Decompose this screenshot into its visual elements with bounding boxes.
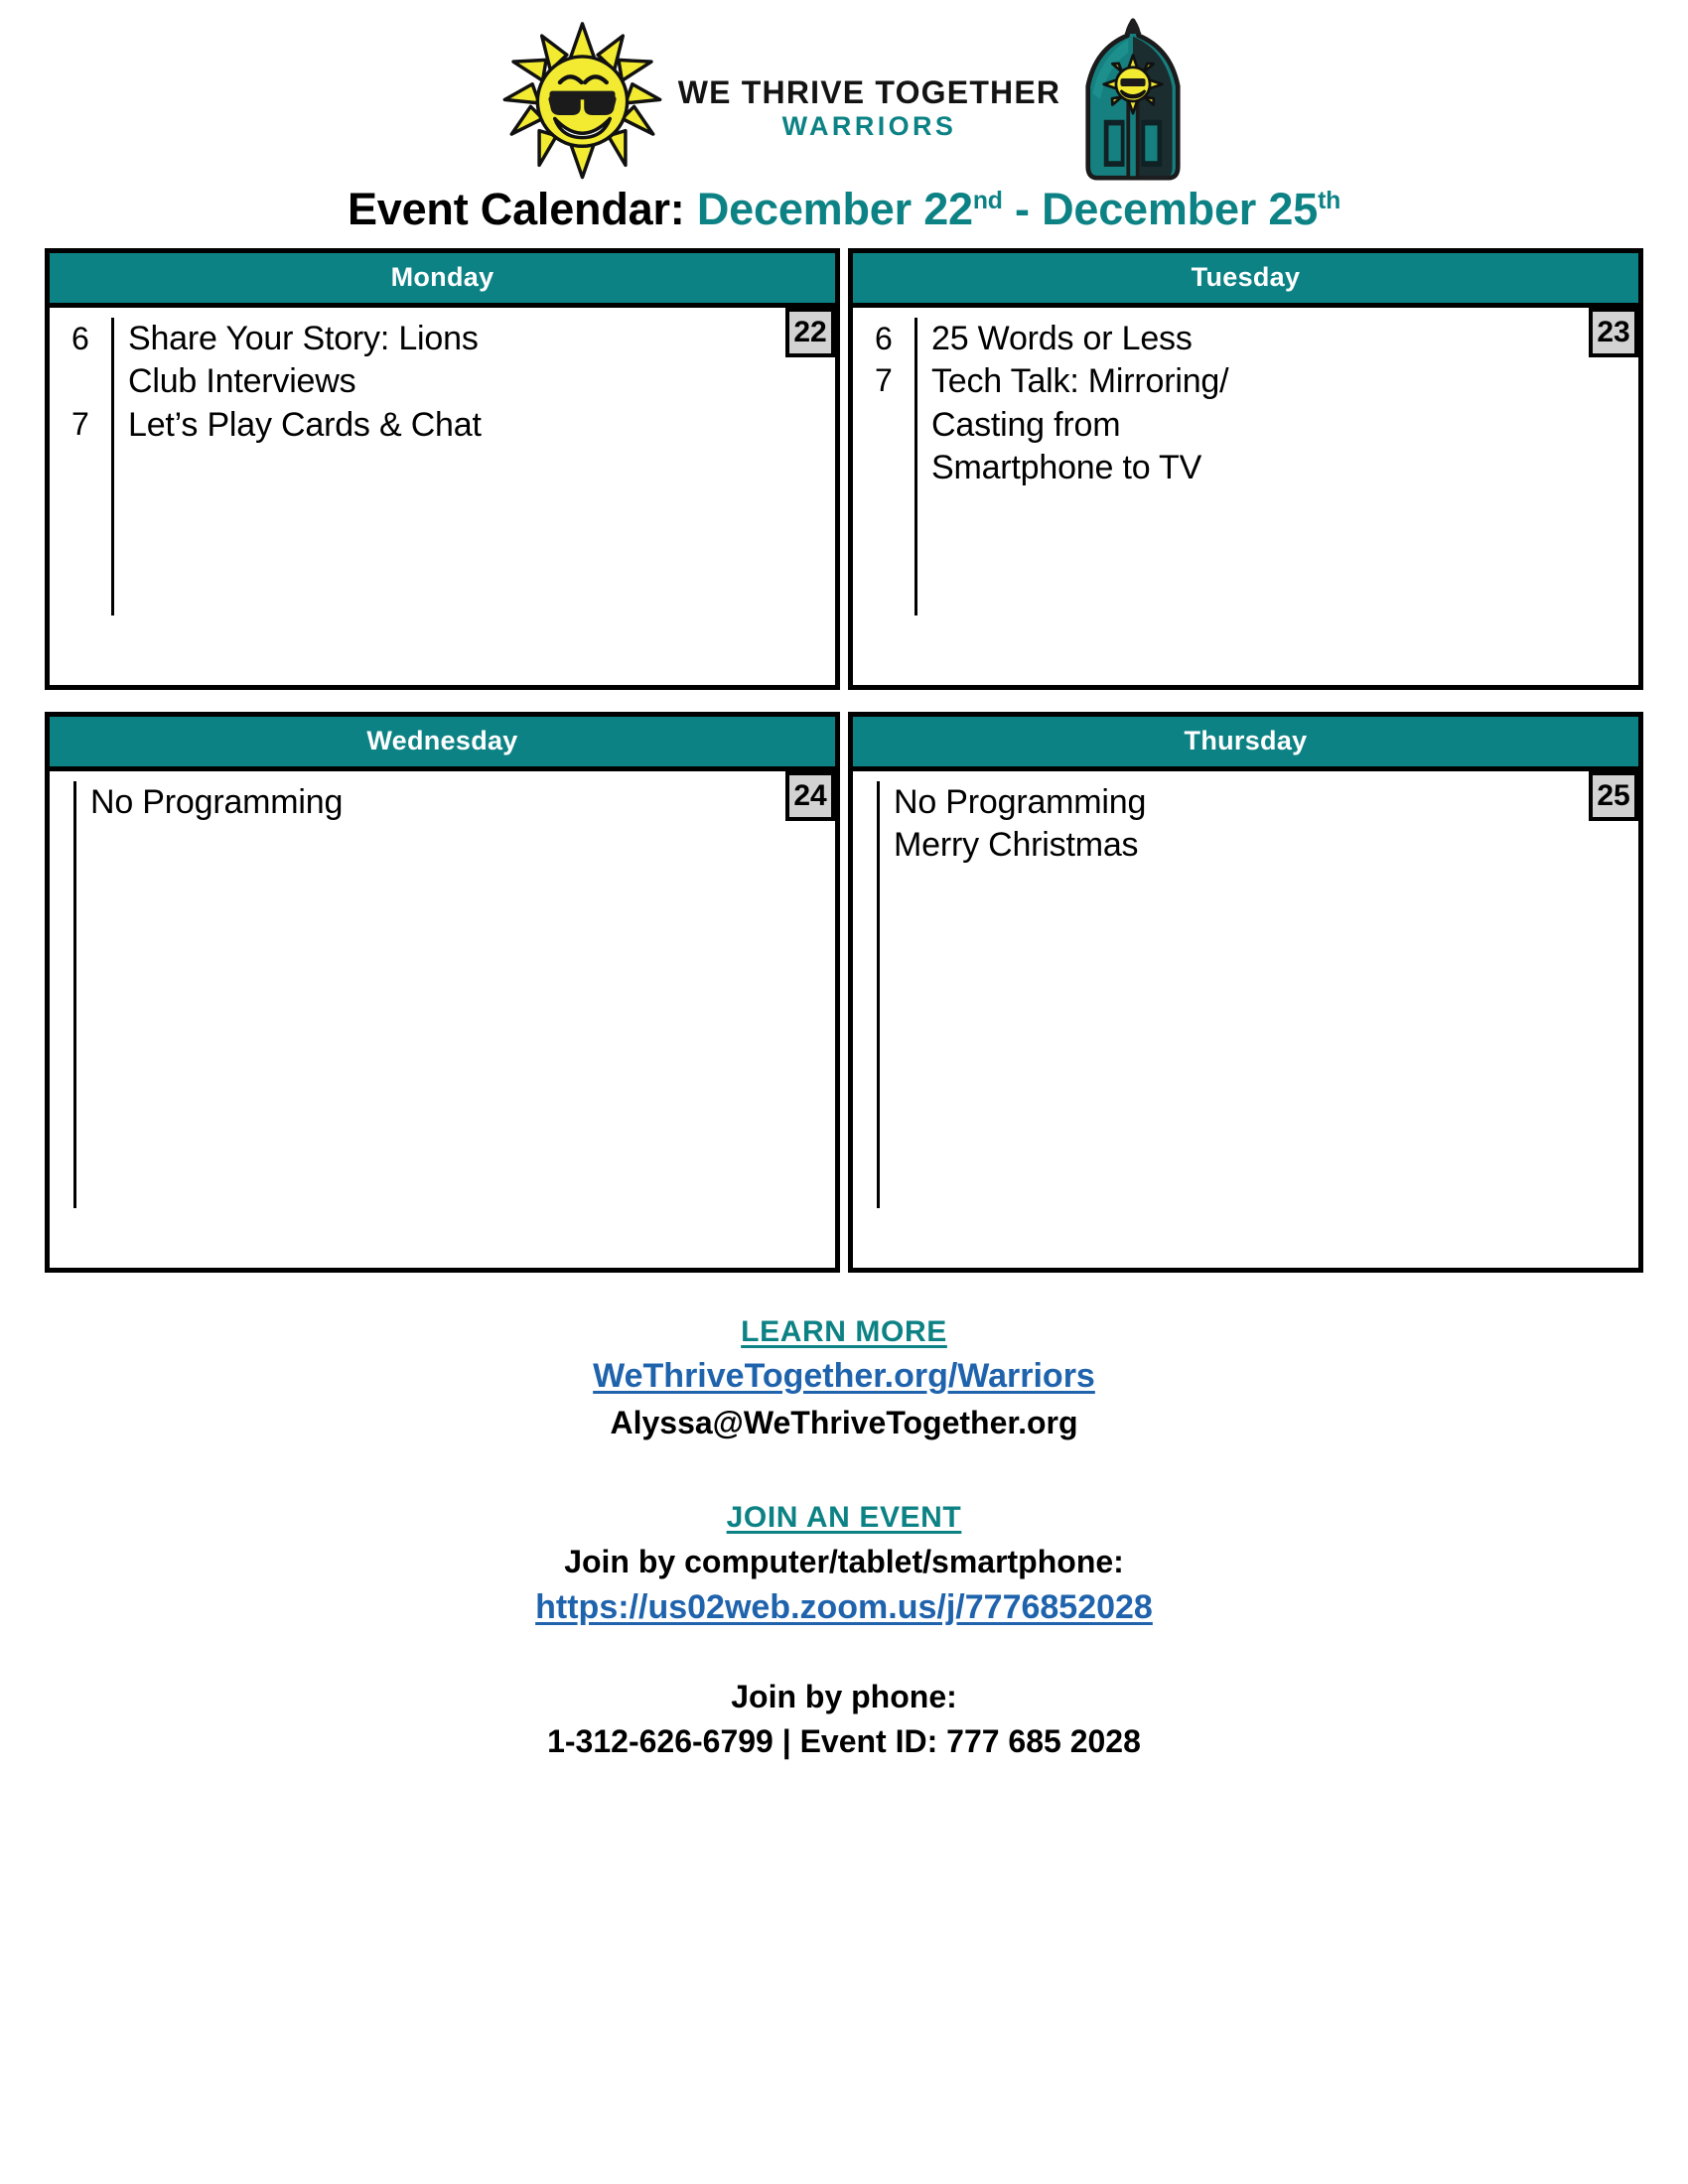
day-column-tuesday: Tuesday 23 6 7 25 Words or Less Tech Tal… — [848, 248, 1643, 690]
date-badge-tuesday: 23 — [1589, 308, 1638, 357]
event-list-tuesday: 6 7 25 Words or Less Tech Talk: Mirrorin… — [853, 316, 1638, 615]
time-label: 7 — [71, 403, 111, 445]
event-list-wednesday: No Programming — [50, 779, 835, 1208]
brand-wordmark-line1: WE THRIVE TOGETHER — [678, 76, 1060, 110]
event-list-thursday: No Programming Merry Christmas — [853, 779, 1638, 1208]
event-title-line: Tech Talk: Mirroring/ — [931, 360, 1569, 404]
time-column-tuesday: 6 7 — [875, 316, 914, 615]
date-badge-monday: 22 — [785, 308, 835, 357]
calendar-row-second: Wednesday 24 No Programming Thursday 25 — [45, 712, 1643, 1273]
brand-header: WE THRIVE TOGETHER WARRIORS — [0, 0, 1688, 179]
time-label: 6 — [71, 318, 111, 359]
day-body-tuesday: 23 6 7 25 Words or Less Tech Talk: Mirro… — [853, 308, 1638, 685]
join-by-phone-number: 1-312-626-6799 | Event ID: 777 685 2028 — [0, 1719, 1688, 1764]
time-label: 6 — [875, 318, 914, 359]
event-title-line: Share Your Story: Lions — [128, 318, 766, 361]
event-calendar: Monday 22 6 7 Share Your Story: Lions Cl… — [45, 248, 1643, 1273]
day-header-wednesday: Wednesday — [50, 717, 835, 771]
event-titles-thursday: No Programming Merry Christmas — [880, 779, 1569, 1208]
event-title-line: Smartphone to TV — [931, 447, 1569, 490]
page-title-range-start-suffix: nd — [973, 188, 1003, 214]
day-column-monday: Monday 22 6 7 Share Your Story: Lions Cl… — [45, 248, 840, 690]
page-title-separator: - — [1003, 184, 1042, 234]
event-title-line: Casting from — [931, 404, 1569, 448]
event-title-line: No Programming — [894, 781, 1569, 825]
join-an-event-heading: JOIN AN EVENT — [0, 1496, 1688, 1540]
event-title-line: Let’s Play Cards & Chat — [128, 404, 766, 448]
day-column-thursday: Thursday 25 No Programming Merry Christm… — [848, 712, 1643, 1273]
time-label: 7 — [875, 359, 914, 401]
event-titles-tuesday: 25 Words or Less Tech Talk: Mirroring/ C… — [917, 316, 1569, 615]
date-badge-thursday: 25 — [1589, 771, 1638, 821]
page-footer: LEARN MORE WeThriveTogether.org/Warriors… — [0, 1310, 1688, 1764]
day-header-monday: Monday — [50, 253, 835, 308]
page-title-range-end: December 25 — [1042, 184, 1318, 234]
date-badge-wednesday: 24 — [785, 771, 835, 821]
page-title-label: Event Calendar: — [348, 184, 685, 234]
page-title-range-start: December 22 — [697, 184, 973, 234]
learn-more-heading: LEARN MORE — [0, 1310, 1688, 1354]
brand-wordmark: WE THRIVE TOGETHER WARRIORS — [678, 55, 1060, 142]
brand-wordmark-line2: WARRIORS — [782, 110, 957, 142]
day-header-tuesday: Tuesday — [853, 253, 1638, 308]
warrior-helmet-logo-icon — [1068, 17, 1197, 181]
event-title-line: No Programming — [90, 781, 766, 825]
time-column-monday: 6 7 — [71, 316, 111, 615]
event-title-line: Merry Christmas — [894, 824, 1569, 868]
day-body-thursday: 25 No Programming Merry Christmas — [853, 771, 1638, 1268]
event-titles-monday: Share Your Story: Lions Club Interviews … — [114, 316, 766, 615]
event-list-monday: 6 7 Share Your Story: Lions Club Intervi… — [50, 316, 835, 615]
day-column-wednesday: Wednesday 24 No Programming — [45, 712, 840, 1273]
sun-with-sunglasses-logo-icon — [491, 17, 674, 181]
join-by-device-label: Join by computer/tablet/smartphone: — [0, 1540, 1688, 1584]
zoom-meeting-link[interactable]: https://us02web.zoom.us/j/7776852028 — [0, 1584, 1688, 1632]
day-body-wednesday: 24 No Programming — [50, 771, 835, 1268]
website-link[interactable]: WeThriveTogether.org/Warriors — [0, 1353, 1688, 1401]
page-title-range-end-suffix: th — [1318, 188, 1340, 214]
day-header-thursday: Thursday — [853, 717, 1638, 771]
page-title: Event Calendar: December 22nd - December… — [0, 185, 1688, 234]
event-title-line: Club Interviews — [128, 360, 766, 404]
calendar-row-first: Monday 22 6 7 Share Your Story: Lions Cl… — [45, 248, 1643, 690]
event-title-line: 25 Words or Less — [931, 318, 1569, 361]
event-titles-wednesday: No Programming — [76, 779, 766, 1208]
day-body-monday: 22 6 7 Share Your Story: Lions Club Inte… — [50, 308, 835, 685]
contact-email[interactable]: Alyssa@WeThriveTogether.org — [0, 1401, 1688, 1445]
join-by-phone-label: Join by phone: — [0, 1675, 1688, 1719]
